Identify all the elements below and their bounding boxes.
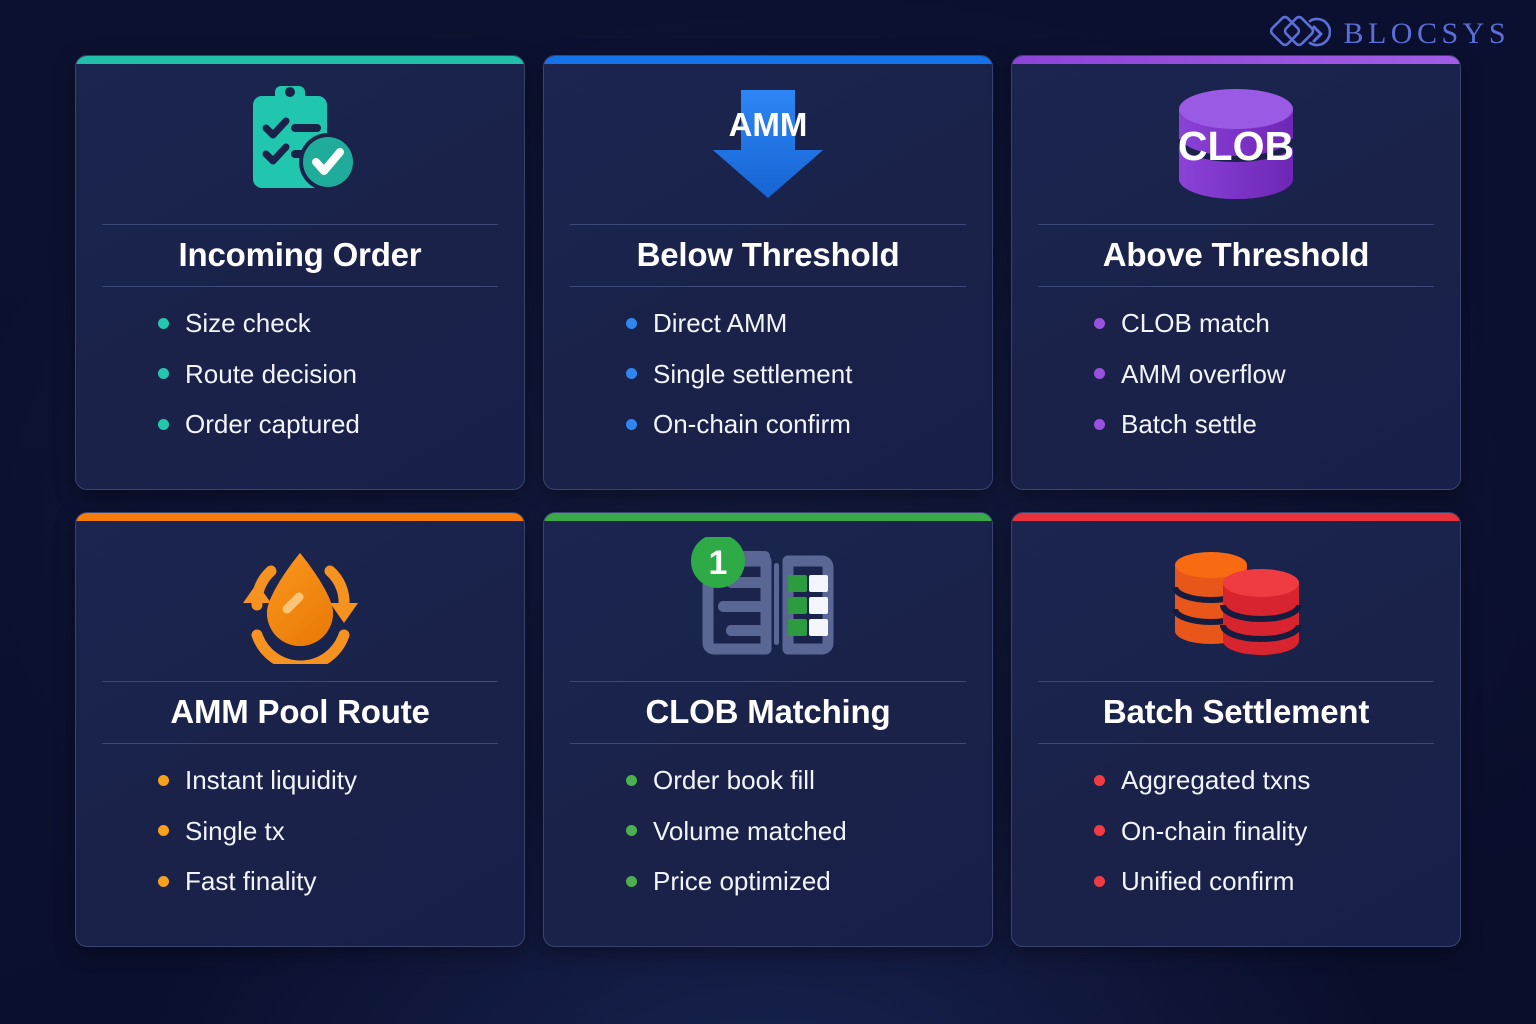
- bullet-dot: [1094, 368, 1105, 379]
- bullet-dot: [1094, 419, 1105, 430]
- card-above-threshold[interactable]: CLOB Above Threshold CLOB match AMM over…: [1011, 55, 1461, 490]
- stacked-databases-icon: [1161, 539, 1311, 664]
- bullet-item: AMM overflow: [1094, 360, 1434, 389]
- bullet-dot: [1094, 876, 1105, 887]
- blocsys-interlocking-diamonds-logo-icon: [1269, 14, 1331, 54]
- card-title: Below Threshold: [570, 224, 966, 287]
- card-icon: [102, 64, 498, 224]
- bullet-dot: [158, 419, 169, 430]
- card-title: Above Threshold: [1038, 224, 1434, 287]
- card-icon: 1: [570, 521, 966, 681]
- bullet-dot: [626, 775, 637, 786]
- bullet-item: Unified confirm: [1094, 867, 1434, 896]
- card-bullets: Size check Route decision Order captured: [102, 309, 498, 461]
- bullet-item: On-chain confirm: [626, 410, 966, 439]
- bullet-item: Batch settle: [1094, 410, 1434, 439]
- bullet-label: Fast finality: [185, 867, 317, 896]
- bullet-item: Single tx: [158, 817, 498, 846]
- bullet-label: Single tx: [185, 817, 285, 846]
- bullet-item: Single settlement: [626, 360, 966, 389]
- bullet-dot: [1094, 825, 1105, 836]
- bullet-label: Unified confirm: [1121, 867, 1294, 896]
- clob-database-cylinder-icon: CLOB: [1161, 87, 1311, 202]
- bullet-dot: [626, 876, 637, 887]
- bullet-item: Order book fill: [626, 766, 966, 795]
- card-below-threshold[interactable]: AMM Below Threshold Direct AMM Single se…: [543, 55, 993, 490]
- liquidity-droplet-cycle-icon: [233, 539, 368, 664]
- bullet-label: Route decision: [185, 360, 357, 389]
- bullet-dot: [1094, 318, 1105, 329]
- bullet-dot: [158, 775, 169, 786]
- bullet-dot: [626, 419, 637, 430]
- bullet-label: Batch settle: [1121, 410, 1257, 439]
- card-accent-bar: [1012, 513, 1460, 521]
- bullet-label: Single settlement: [653, 360, 852, 389]
- order-book-badge-count: 1: [709, 544, 728, 582]
- card-title: Batch Settlement: [1038, 681, 1434, 744]
- bullet-dot: [158, 368, 169, 379]
- card-accent-bar: [76, 513, 524, 521]
- card-clob-matching[interactable]: 1 CLOB Matching Order book fill Volume m…: [543, 512, 993, 947]
- brand-name: BLOCSYS: [1343, 19, 1510, 49]
- bullet-label: Size check: [185, 309, 311, 338]
- bullet-item: On-chain finality: [1094, 817, 1434, 846]
- card-amm-pool-route[interactable]: AMM Pool Route Instant liquidity Single …: [75, 512, 525, 947]
- bullet-label: Instant liquidity: [185, 766, 357, 795]
- bullet-item: Volume matched: [626, 817, 966, 846]
- amm-arrow-label: AMM: [729, 106, 808, 143]
- bullet-item: Order captured: [158, 410, 498, 439]
- card-title: AMM Pool Route: [102, 681, 498, 744]
- card-accent-bar: [76, 56, 524, 64]
- bullet-dot: [158, 318, 169, 329]
- card-icon: CLOB: [1038, 64, 1434, 224]
- card-bullets: Order book fill Volume matched Price opt…: [570, 766, 966, 918]
- bullet-dot: [626, 825, 637, 836]
- bullet-label: AMM overflow: [1121, 360, 1286, 389]
- card-accent-bar: [1012, 56, 1460, 64]
- bullet-label: Aggregated txns: [1121, 766, 1310, 795]
- bullet-label: CLOB match: [1121, 309, 1270, 338]
- bullet-label: Volume matched: [653, 817, 847, 846]
- bullet-item: Price optimized: [626, 867, 966, 896]
- bullet-label: Price optimized: [653, 867, 831, 896]
- bullet-label: Direct AMM: [653, 309, 787, 338]
- bullet-label: Order captured: [185, 410, 360, 439]
- bullet-item: CLOB match: [1094, 309, 1434, 338]
- clob-cylinder-label: CLOB: [1178, 123, 1294, 169]
- card-title: CLOB Matching: [570, 681, 966, 744]
- clipboard-checklist-check-icon: [235, 84, 365, 204]
- bullet-dot: [626, 368, 637, 379]
- bullet-label: On-chain finality: [1121, 817, 1307, 846]
- amm-down-arrow-icon: AMM: [693, 84, 843, 204]
- bullet-item: Fast finality: [158, 867, 498, 896]
- brand-logo: BLOCSYS: [1269, 14, 1510, 54]
- bullet-label: On-chain confirm: [653, 410, 851, 439]
- card-bullets: CLOB match AMM overflow Batch settle: [1038, 309, 1434, 461]
- card-icon: AMM: [570, 64, 966, 224]
- bullet-label: Order book fill: [653, 766, 815, 795]
- card-batch-settlement[interactable]: Batch Settlement Aggregated txns On-chai…: [1011, 512, 1461, 947]
- bullet-item: Direct AMM: [626, 309, 966, 338]
- bullet-dot: [1094, 775, 1105, 786]
- card-accent-bar: [544, 56, 992, 64]
- card-incoming-order[interactable]: Incoming Order Size check Route decision…: [75, 55, 525, 490]
- bullet-item: Aggregated txns: [1094, 766, 1434, 795]
- card-bullets: Aggregated txns On-chain finality Unifie…: [1038, 766, 1434, 918]
- card-icon: [102, 521, 498, 681]
- card-accent-bar: [544, 513, 992, 521]
- card-grid: Incoming Order Size check Route decision…: [75, 55, 1461, 947]
- card-title: Incoming Order: [102, 224, 498, 287]
- card-icon: [1038, 521, 1434, 681]
- bullet-item: Route decision: [158, 360, 498, 389]
- bullet-dot: [626, 318, 637, 329]
- bullet-item: Instant liquidity: [158, 766, 498, 795]
- bullet-dot: [158, 825, 169, 836]
- bullet-item: Size check: [158, 309, 498, 338]
- card-bullets: Direct AMM Single settlement On-chain co…: [570, 309, 966, 461]
- order-book-ledger-badge-icon: 1: [688, 537, 848, 665]
- bullet-dot: [158, 876, 169, 887]
- card-bullets: Instant liquidity Single tx Fast finalit…: [102, 766, 498, 918]
